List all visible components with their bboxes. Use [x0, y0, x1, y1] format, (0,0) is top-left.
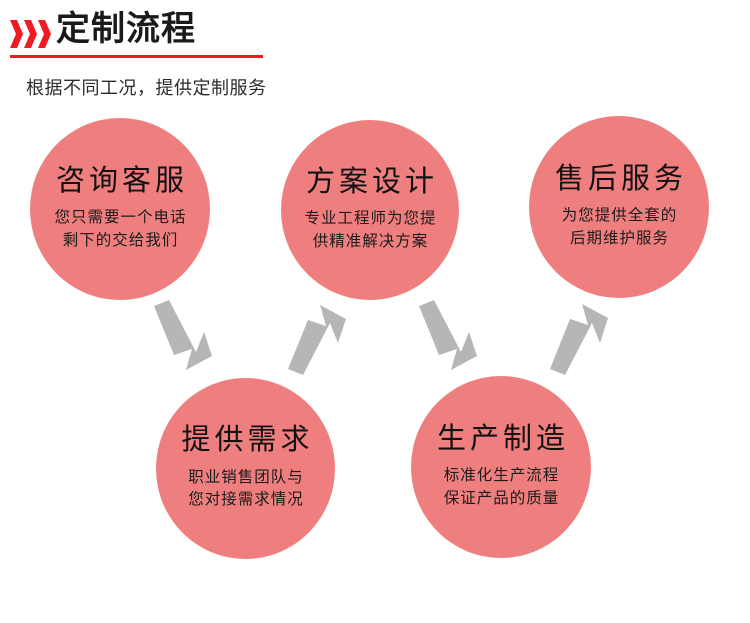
step-1-line-2: 剩下的交给我们 — [53, 230, 186, 252]
customization-process-infographic: 定制流程 根据不同工况，提供定制服务 咨询客服 您只需要一个电话 剩下的交给我们… — [0, 0, 750, 623]
chevron-right-icon — [24, 20, 37, 48]
step-4-line-1: 标准化生产流程 — [443, 465, 560, 487]
step-2-title: 提供需求 — [177, 425, 313, 457]
step-3-title: 方案设计 — [302, 167, 438, 199]
title-underline-divider — [10, 55, 263, 58]
arrow-step3-to-step4 — [417, 300, 479, 376]
step-circle-4[interactable]: 生产制造 标准化生产流程 保证产品的质量 — [411, 376, 591, 558]
step-3-line-2: 供精准解决方案 — [303, 231, 436, 253]
step-circle-5[interactable]: 售后服务 为您提供全套的 后期维护服务 — [529, 116, 709, 298]
step-1-line-1: 您只需要一个电话 — [53, 207, 186, 229]
step-4-line-2: 保证产品的质量 — [443, 488, 560, 510]
step-5-line-1: 为您提供全套的 — [561, 205, 678, 227]
step-1-description: 您只需要一个电话 剩下的交给我们 — [53, 207, 186, 252]
arrow-step2-to-step3 — [286, 299, 348, 375]
chevron-right-icon — [38, 20, 51, 48]
header: 定制流程 根据不同工况，提供定制服务 — [0, 0, 750, 105]
step-2-description: 职业销售团队与 您对接需求情况 — [187, 467, 304, 512]
step-4-description: 标准化生产流程 保证产品的质量 — [443, 465, 560, 510]
step-4-title: 生产制造 — [433, 424, 569, 456]
step-5-title: 售后服务 — [551, 164, 687, 196]
chevron-right-icon — [10, 20, 23, 48]
page-subtitle: 根据不同工况，提供定制服务 — [26, 74, 267, 100]
step-5-description: 为您提供全套的 后期维护服务 — [561, 205, 678, 250]
step-circle-1[interactable]: 咨询客服 您只需要一个电话 剩下的交给我们 — [30, 118, 210, 300]
step-3-description: 专业工程师为您提 供精准解决方案 — [303, 208, 436, 253]
step-2-line-2: 您对接需求情况 — [187, 489, 304, 511]
step-1-title: 咨询客服 — [52, 166, 188, 198]
step-circle-2[interactable]: 提供需求 职业销售团队与 您对接需求情况 — [156, 378, 335, 559]
arrow-step4-to-step5 — [548, 297, 610, 375]
step-2-line-1: 职业销售团队与 — [187, 467, 304, 489]
step-5-line-2: 后期维护服务 — [561, 228, 678, 250]
triple-chevron-right-icon — [10, 19, 56, 49]
page-title: 定制流程 — [56, 9, 196, 49]
step-3-line-1: 专业工程师为您提 — [303, 208, 436, 230]
arrow-step1-to-step2 — [152, 300, 214, 376]
step-circle-3[interactable]: 方案设计 专业工程师为您提 供精准解决方案 — [281, 120, 459, 300]
